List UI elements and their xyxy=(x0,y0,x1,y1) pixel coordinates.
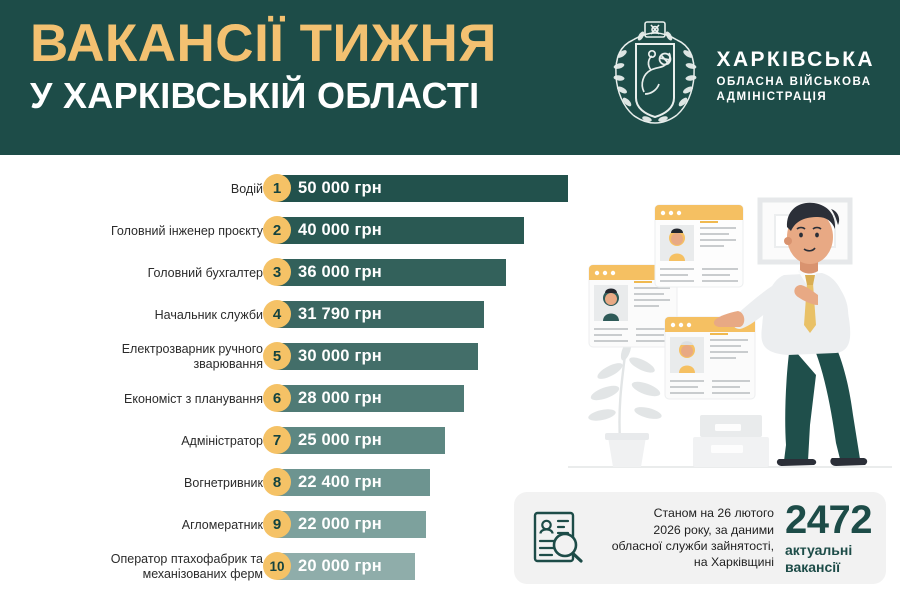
chart-row: Головний бухгалтер36 000 грн3 xyxy=(0,258,600,288)
rank-badge: 8 xyxy=(263,468,291,496)
row-label: Оператор птахофабрик та механізованих фе… xyxy=(3,552,263,582)
chart-row: Адміністратор25 000 грн7 xyxy=(0,426,600,456)
rank-badge: 4 xyxy=(263,300,291,328)
rank-badge: 6 xyxy=(263,384,291,412)
chart-bar: 22 400 грн xyxy=(277,469,430,496)
bar-value-label: 25 000 грн xyxy=(298,431,382,450)
stats-number: 2472 xyxy=(785,501,872,540)
organization-logo: ХАРКІВСЬКА ОБЛАСНА ВІЙСЬКОВА АДМІНІСТРАЦ… xyxy=(607,20,875,132)
rank-badge: 5 xyxy=(263,342,291,370)
header-banner: ВАКАНСІЇ ТИЖНЯ У ХАРКІВСЬКІЙ ОБЛАСТІ xyxy=(0,0,900,155)
chart-bar: 25 000 грн xyxy=(277,427,445,454)
cv-card-3 xyxy=(665,317,755,399)
logo-line-2: ОБЛАСНА ВІЙСЬКОВА xyxy=(717,75,875,91)
stats-panel: Станом на 26 лютого 2026 року, за даними… xyxy=(514,492,886,584)
row-label: Начальник служби xyxy=(3,308,263,323)
infographic-root: ВАКАНСІЇ ТИЖНЯ У ХАРКІВСЬКІЙ ОБЛАСТІ xyxy=(0,0,900,600)
chart-bar: 31 790 грн xyxy=(277,301,484,328)
row-label: Головний інженер проєкту xyxy=(3,224,263,239)
cv-search-icon xyxy=(530,509,588,567)
row-label: Електрозварник ручного зварювання xyxy=(3,342,263,372)
page-title: ВАКАНСІЇ ТИЖНЯ У ХАРКІВСЬКІЙ ОБЛАСТІ xyxy=(30,17,497,115)
rank-badge: 1 xyxy=(263,174,291,202)
bar-value-label: 28 000 грн xyxy=(298,389,382,408)
row-label: Економіст з планування xyxy=(3,392,263,407)
stats-caption: актуальні вакансії xyxy=(785,542,872,575)
chart-bar: 20 000 грн xyxy=(277,553,415,580)
stats-description: Станом на 26 лютого 2026 року, за даними… xyxy=(588,505,785,571)
row-label: Адміністратор xyxy=(3,434,263,449)
title-sub: У ХАРКІВСЬКІЙ ОБЛАСТІ xyxy=(30,77,497,115)
rank-badge: 7 xyxy=(263,426,291,454)
bar-value-label: 31 790 грн xyxy=(298,305,382,324)
row-label: Водій xyxy=(3,182,263,197)
chart-row: Вогнетривник22 400 грн8 xyxy=(0,468,600,498)
chart-bar: 36 000 грн xyxy=(277,259,506,286)
rank-badge: 2 xyxy=(263,216,291,244)
bar-value-label: 20 000 грн xyxy=(298,557,382,576)
coat-of-arms-icon xyxy=(607,20,703,132)
row-label: Вогнетривник xyxy=(3,476,263,491)
cv-card-1 xyxy=(655,205,743,287)
logo-text: ХАРКІВСЬКА ОБЛАСНА ВІЙСЬКОВА АДМІНІСТРАЦ… xyxy=(717,46,875,107)
chart-bar: 30 000 грн xyxy=(277,343,478,370)
stats-figure: 2472 актуальні вакансії xyxy=(785,501,872,575)
rank-badge: 3 xyxy=(263,258,291,286)
chart-row: Начальник служби31 790 грн4 xyxy=(0,300,600,330)
job-seeker-cv-illustration xyxy=(560,175,900,490)
logo-line-1: ХАРКІВСЬКА xyxy=(717,46,875,75)
chart-row: Агломератник22 000 грн9 xyxy=(0,510,600,540)
chart-bar: 50 000 грн xyxy=(277,175,568,202)
chart-row: Оператор птахофабрик та механізованих фе… xyxy=(0,552,600,582)
row-label: Головний бухгалтер xyxy=(3,266,263,281)
row-label: Агломератник xyxy=(3,518,263,533)
printer xyxy=(693,415,769,467)
title-main: ВАКАНСІЇ ТИЖНЯ xyxy=(30,17,497,71)
chart-row: Водій50 000 грн1 xyxy=(0,174,600,204)
plant xyxy=(587,340,663,467)
chart-bar: 22 000 грн xyxy=(277,511,426,538)
chart-row: Електрозварник ручного зварювання30 000 … xyxy=(0,342,600,372)
bar-value-label: 22 400 грн xyxy=(298,473,382,492)
bar-value-label: 50 000 грн xyxy=(298,179,382,198)
rank-badge: 9 xyxy=(263,510,291,538)
rank-badge: 10 xyxy=(263,552,291,580)
bar-value-label: 30 000 грн xyxy=(298,347,382,366)
logo-line-3: АДМІНІСТРАЦІЯ xyxy=(717,90,875,106)
chart-row: Головний інженер проєкту40 000 грн2 xyxy=(0,216,600,246)
bar-value-label: 22 000 грн xyxy=(298,515,382,534)
chart-bar: 40 000 грн xyxy=(277,217,524,244)
vacancies-bar-chart: Водій50 000 грн1Головний інженер проєкту… xyxy=(0,155,600,600)
chart-row: Економіст з планування28 000 грн6 xyxy=(0,384,600,414)
bar-value-label: 36 000 грн xyxy=(298,263,382,282)
chart-bar: 28 000 грн xyxy=(277,385,464,412)
bar-value-label: 40 000 грн xyxy=(298,221,382,240)
